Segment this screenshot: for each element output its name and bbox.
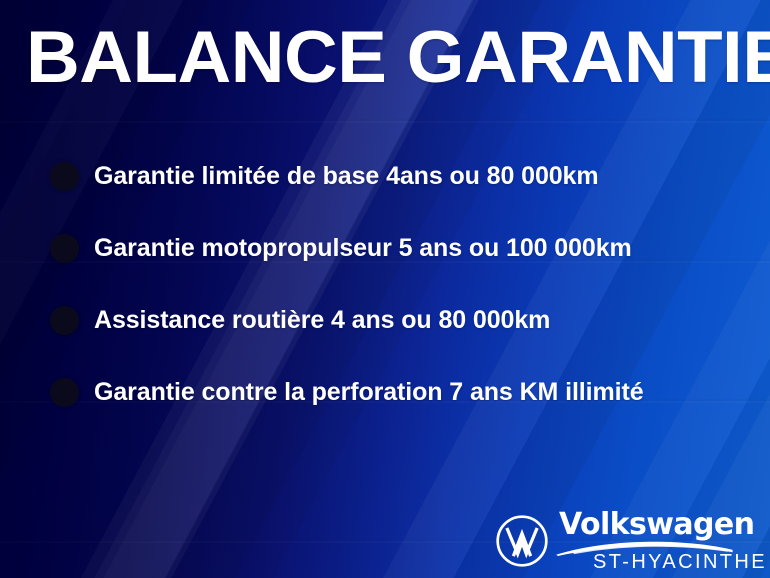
volkswagen-roundel-icon	[495, 514, 549, 568]
warranty-list: Garantie limitée de base 4ans ou 80 000k…	[50, 140, 760, 428]
bullet-dot-icon	[50, 234, 79, 263]
page-title: BALANCE GARANTIE	[26, 20, 760, 96]
brand-wordmark: Volkswagen	[559, 509, 754, 541]
list-item: Garantie contre la perforation 7 ans KM …	[50, 356, 760, 428]
promo-slide: BALANCE GARANTIE Garantie limitée de bas…	[0, 0, 770, 578]
list-item: Garantie motopropulseur 5 ans ou 100 000…	[50, 212, 760, 284]
list-item-label: Garantie motopropulseur 5 ans ou 100 000…	[94, 234, 632, 262]
bullet-dot-icon	[50, 378, 79, 407]
dealer-logo-lockup: Volkswagen ST-HYACINTHE	[495, 505, 760, 575]
list-item: Assistance routière 4 ans ou 80 000km	[50, 284, 760, 356]
list-item-label: Assistance routière 4 ans ou 80 000km	[94, 306, 550, 334]
list-item-label: Garantie contre la perforation 7 ans KM …	[94, 378, 644, 406]
dealer-name: ST-HYACINTHE	[593, 551, 767, 573]
list-item-label: Garantie limitée de base 4ans ou 80 000k…	[94, 162, 598, 190]
list-item: Garantie limitée de base 4ans ou 80 000k…	[50, 140, 760, 212]
bullet-dot-icon	[50, 162, 79, 191]
bullet-dot-icon	[50, 306, 79, 335]
